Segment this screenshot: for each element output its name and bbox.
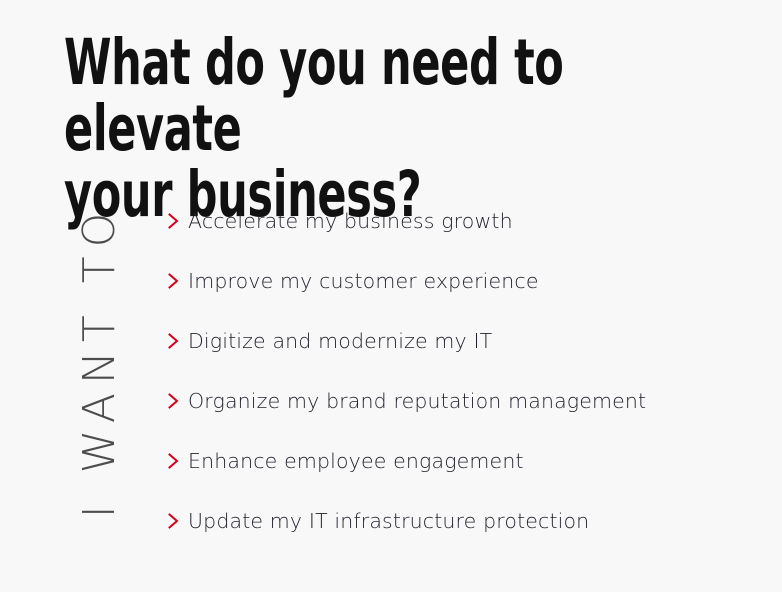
list-item[interactable]: Improve my customer experience — [162, 251, 762, 311]
chevron-right-icon — [162, 210, 184, 232]
vertical-label: I WANT TO — [70, 196, 130, 526]
list-item-label: Organize my brand reputation management — [188, 389, 646, 413]
list-item[interactable]: Digitize and modernize my IT — [162, 311, 762, 371]
list-item[interactable]: Update my IT infrastructure protection — [162, 491, 762, 551]
vertical-label-text: I WANT TO — [78, 204, 122, 518]
chevron-right-icon — [162, 270, 184, 292]
chevron-right-icon — [162, 450, 184, 472]
list-item-label: Accelerate my business growth — [188, 209, 513, 233]
list-item-label: Improve my customer experience — [188, 269, 539, 293]
chevron-right-icon — [162, 390, 184, 412]
list-item-label: Enhance employee engagement — [188, 449, 524, 473]
list-item-label: Update my IT infrastructure protection — [188, 509, 589, 533]
chevron-right-icon — [162, 510, 184, 532]
list-item[interactable]: Organize my brand reputation management — [162, 371, 762, 431]
options-list: Accelerate my business growth Improve my… — [162, 191, 762, 551]
list-item[interactable]: Enhance employee engagement — [162, 431, 762, 491]
chevron-right-icon — [162, 330, 184, 352]
list-item[interactable]: Accelerate my business growth — [162, 191, 762, 251]
page-root: What do you need to elevate your busines… — [0, 0, 782, 592]
list-item-label: Digitize and modernize my IT — [188, 329, 492, 353]
